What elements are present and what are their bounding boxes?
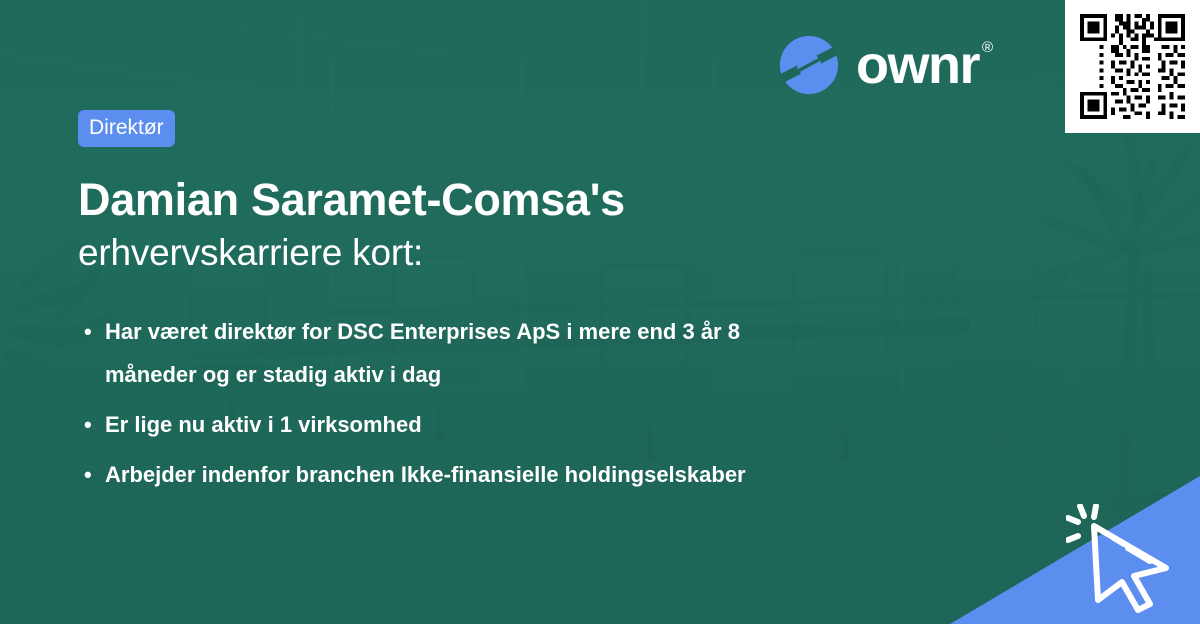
role-badge: Direktør bbox=[78, 110, 175, 147]
business-card-graphic: ownr ® Direktør Damian Saramet-Comsa's e… bbox=[0, 0, 1200, 624]
bullet-icon: • bbox=[84, 310, 105, 353]
facts-list: • Har været direktør for DSC Enterprises… bbox=[84, 310, 944, 503]
bullet-icon: • bbox=[84, 403, 105, 446]
wordmark-text: ownr bbox=[856, 36, 979, 94]
registered-trademark-icon: ® bbox=[982, 36, 993, 60]
page-subtitle: erhvervskarriere kort: bbox=[78, 229, 978, 277]
headline-block: Direktør Damian Saramet-Comsa's erhvervs… bbox=[78, 110, 978, 277]
bullet-icon: • bbox=[84, 453, 105, 496]
list-item: • Har været direktør for DSC Enterprises… bbox=[84, 310, 944, 396]
list-item: • Er lige nu aktiv i 1 virksomhed bbox=[84, 403, 944, 446]
list-item-text: Er lige nu aktiv i 1 virksomhed bbox=[105, 403, 422, 446]
list-item-text: Arbejder indenfor branchen Ikke-finansie… bbox=[105, 453, 746, 496]
qr-code[interactable] bbox=[1065, 0, 1200, 133]
ownr-wordmark: ownr ® bbox=[856, 36, 993, 94]
page-title: Damian Saramet-Comsa's bbox=[78, 171, 978, 229]
ownr-logo: ownr ® bbox=[778, 33, 993, 97]
click-cursor-icon bbox=[1066, 504, 1182, 616]
list-item-text: Har været direktør for DSC Enterprises A… bbox=[105, 310, 805, 396]
list-item: • Arbejder indenfor branchen Ikke-finans… bbox=[84, 453, 944, 496]
ownr-circular-swoosh-logo-icon bbox=[778, 34, 840, 96]
